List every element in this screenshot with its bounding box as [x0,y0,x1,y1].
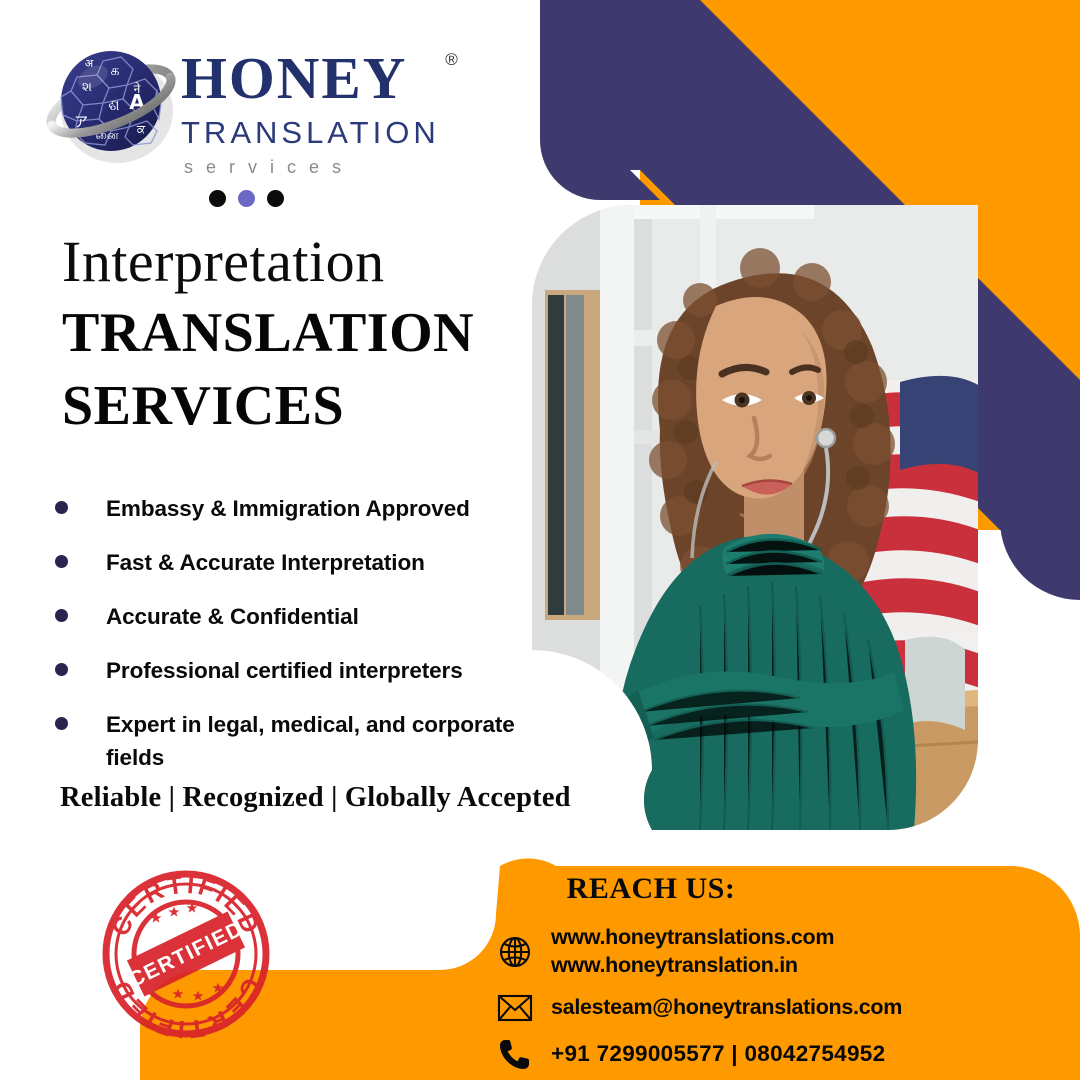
headline-bold-line-1: TRANSLATION [62,301,532,367]
phone-icon [495,1037,535,1071]
contact-row-website[interactable]: www.honeytranslations.com www.honeytrans… [495,924,1075,979]
contact-rows: www.honeytranslations.com www.honeytrans… [455,924,1075,1071]
contact-panel: REACH US: www.honeytranslations.com www. [455,872,1075,1080]
bullet-dot-icon [55,609,68,622]
contact-row-email[interactable]: salesteam@honeytranslations.com [495,993,1075,1023]
website-line-1: www.honeytranslations.com [551,925,834,949]
purple-diagonal-band [540,0,1080,541]
dot-1 [209,190,226,207]
photo-frame [532,205,980,830]
logo-name-main: HONEY® [181,49,440,108]
globe-icon [495,934,535,970]
contact-phone-text: +91 7299005577 | 08042754952 [551,1040,885,1069]
globe-icon-slot [55,55,167,167]
bullet-dot-icon [55,717,68,730]
website-line-2: www.honeytranslation.in [551,953,798,977]
poster-canvas: CERTIFIED CERTIFIED CERTIFIED [0,0,1080,1080]
brand-logo[interactable]: HONEY® TRANSLATION services [55,45,440,176]
decorative-dots [209,190,284,207]
headline-script-line: Interpretation [62,232,532,293]
page-title: Interpretation TRANSLATION SERVICES [62,232,532,440]
list-item: Accurate & Confidential [55,600,535,633]
list-item-label: Fast & Accurate Interpretation [106,546,425,579]
stamp-banner-text: CERTIFIED [125,917,247,992]
contact-row-phone[interactable]: +91 7299005577 | 08042754952 [495,1037,1075,1071]
bullet-dot-icon [55,663,68,676]
bullet-dot-icon [55,501,68,514]
orange-shape-top-right [623,0,1080,530]
contact-heading: REACH US: [461,872,841,906]
svg-text:CERTIFIED: CERTIFIED [106,871,265,941]
dot-2 [238,190,255,207]
list-item: Fast & Accurate Interpretation [55,546,535,579]
envelope-icon [495,993,535,1023]
list-item-label: Expert in legal, medical, and corporate … [106,708,535,774]
stamp-ring-text-bottom: CERTIFIED [106,974,265,1044]
certified-stamp: CERTIFIED CERTIFIED CERTIFIED [106,871,266,1044]
list-item-label: Embassy & Immigration Approved [106,492,470,525]
bullet-dot-icon [55,555,68,568]
logo-name-tagline: services [184,158,440,176]
headline-bold-line-2: SERVICES [62,374,532,440]
dot-3 [267,190,284,207]
logo-name-sub: TRANSLATION [181,117,440,148]
list-item: Embassy & Immigration Approved [55,492,535,525]
purple-band-lobe [960,300,1080,600]
contact-website-text: www.honeytranslations.com www.honeytrans… [551,924,834,979]
registered-trademark-icon: ® [445,51,460,68]
stamp-ring-text-top: CERTIFIED [106,871,265,941]
feature-list: Embassy & Immigration Approved Fast & Ac… [55,492,535,795]
list-item: Professional certified interpreters [55,654,535,687]
trust-tagline: Reliable | Recognized | Globally Accepte… [60,782,571,814]
logo-wordmark: HONEY® TRANSLATION services [181,45,440,176]
contact-email-text: salesteam@honeytranslations.com [551,994,902,1022]
logo-name-main-text: HONEY [181,45,407,111]
list-item-label: Professional certified interpreters [106,654,463,687]
list-item-label: Accurate & Confidential [106,600,359,633]
svg-text:CERTIFIED: CERTIFIED [106,974,265,1044]
list-item: Expert in legal, medical, and corporate … [55,708,535,774]
